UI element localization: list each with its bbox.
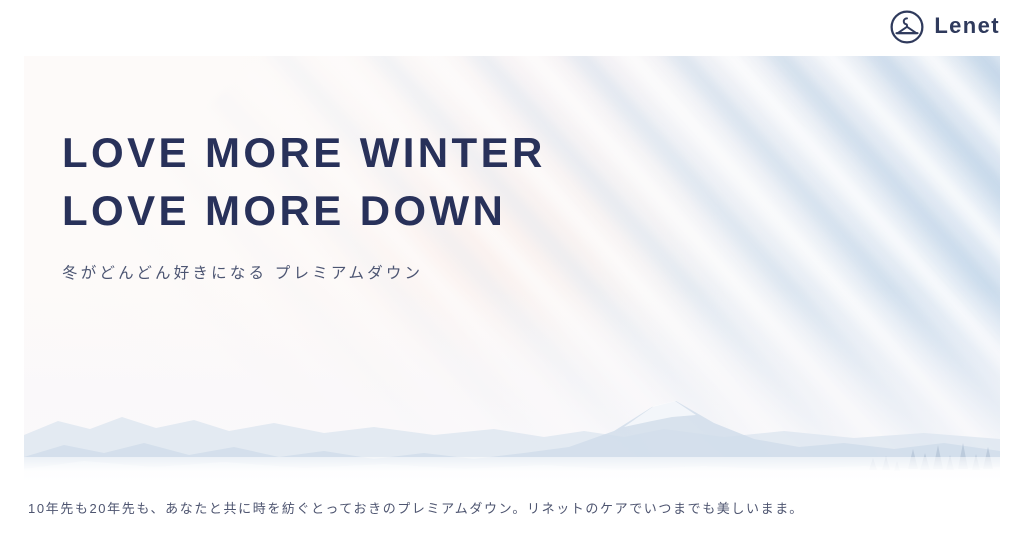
headline-line-1: LOVE MORE WINTER	[62, 124, 546, 182]
brand-logo[interactable]: Lenet	[889, 9, 1000, 45]
headline-line-2: LOVE MORE DOWN	[62, 182, 546, 240]
brand-name: Lenet	[934, 15, 1000, 39]
footer-caption-bar: 10年先も20年先も、あなたと共に時を紡ぐとっておきのプレミアムダウン。リネット…	[0, 483, 1024, 535]
landing-page: Lenet	[0, 0, 1024, 535]
site-header: Lenet	[0, 0, 1024, 56]
hero-subheadline: 冬がどんどん好きになる プレミアムダウン	[62, 262, 546, 285]
hero-banner: LOVE MORE WINTER LOVE MORE DOWN 冬がどんどん好き…	[24, 56, 1000, 483]
snow-foreground	[24, 457, 1000, 483]
hanger-in-circle-icon	[889, 9, 925, 45]
footer-caption: 10年先も20年先も、あなたと共に時を紡ぐとっておきのプレミアムダウン。リネット…	[0, 500, 804, 518]
hero-copy: LOVE MORE WINTER LOVE MORE DOWN 冬がどんどん好き…	[62, 124, 546, 285]
